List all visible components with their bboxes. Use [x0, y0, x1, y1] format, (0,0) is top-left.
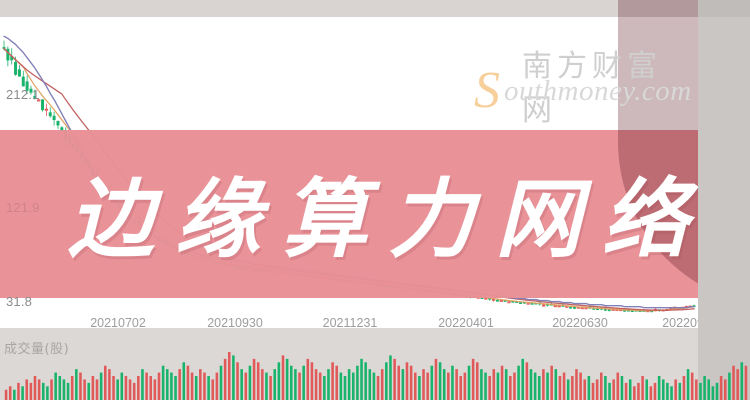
volume-bar	[307, 359, 310, 400]
volume-bar	[352, 373, 355, 400]
volume-bar	[240, 369, 243, 400]
volume-bar	[588, 376, 591, 400]
volume-bar	[323, 376, 326, 400]
volume-bar	[149, 376, 152, 400]
volume-bar	[542, 369, 545, 400]
volume-bar	[273, 369, 276, 400]
volume-bar	[129, 379, 132, 400]
volume-bar	[290, 366, 293, 400]
volume-bar	[133, 383, 136, 400]
volume-bar	[385, 362, 388, 400]
volume-bar	[232, 355, 235, 400]
volume-bar	[476, 362, 479, 400]
y-axis-label-mid: 121.9	[6, 200, 40, 215]
volume-bar	[9, 386, 12, 400]
volume-bar	[265, 373, 268, 400]
volume-bar	[451, 366, 454, 400]
volume-panel	[0, 336, 750, 400]
volume-bar	[728, 373, 731, 400]
volume-bar	[604, 376, 607, 400]
volume-bar	[145, 373, 148, 400]
volume-bar	[546, 373, 549, 400]
volume-bar	[699, 383, 702, 400]
volume-bar	[121, 373, 124, 400]
volume-bar	[327, 369, 330, 400]
volume-bar	[435, 359, 438, 400]
price-chart-card: 212.1 121.9 31.8 20210702202109302021123…	[0, 17, 698, 328]
volume-bar	[315, 369, 318, 400]
volume-bar	[521, 359, 524, 400]
volume-bar	[443, 369, 446, 400]
volume-bar	[662, 379, 665, 400]
volume-bar	[269, 376, 272, 400]
volume-bar	[46, 386, 49, 400]
volume-bar	[488, 376, 491, 400]
volume-bar	[187, 366, 190, 400]
volume-bar	[261, 369, 264, 400]
volume-bar	[707, 379, 710, 400]
volume-bar	[125, 376, 128, 400]
volume-bar	[745, 366, 748, 400]
volume-bar	[645, 379, 648, 400]
volume-bar	[389, 355, 392, 400]
volume-bar	[75, 369, 78, 400]
volume-bar	[54, 373, 57, 400]
volume-title: 成交量(股)	[4, 338, 69, 357]
volume-bar	[381, 369, 384, 400]
volume-bar	[418, 376, 421, 400]
volume-bar	[191, 373, 194, 400]
volume-bar	[71, 376, 74, 400]
volume-bar	[42, 383, 45, 400]
volume-bar	[658, 376, 661, 400]
y-axis-label-high: 212.1	[6, 87, 40, 102]
volume-bar	[629, 379, 632, 400]
volume-bar	[108, 369, 111, 400]
volume-bar	[335, 366, 338, 400]
volume-bar	[340, 373, 343, 400]
volume-bar	[257, 362, 260, 400]
volume-bar	[550, 366, 553, 400]
volume-bar	[720, 376, 723, 400]
volume-bar	[34, 376, 37, 400]
volume-bar	[426, 373, 429, 400]
volume-bar	[253, 359, 256, 400]
volume-bar	[369, 369, 372, 400]
volume-bar	[331, 362, 334, 400]
volume-bar	[410, 366, 413, 400]
candle-body-down	[18, 70, 20, 77]
volume-bar	[116, 379, 119, 400]
volume-bar	[402, 369, 405, 400]
x-axis-tick-1: 20210930	[207, 316, 263, 330]
volume-bar	[497, 373, 500, 400]
volume-bar	[162, 366, 165, 400]
volume-bar	[650, 386, 653, 400]
volume-bar	[493, 369, 496, 400]
volume-bar	[579, 373, 582, 400]
volume-bar	[472, 359, 475, 400]
volume-bar	[484, 373, 487, 400]
volume-bar	[625, 383, 628, 400]
volume-bar	[220, 366, 223, 400]
volume-bar	[703, 376, 706, 400]
volume-bar	[526, 362, 529, 400]
candle-body-down	[14, 62, 16, 74]
volume-bar	[608, 383, 611, 400]
volume-bar	[298, 373, 301, 400]
volume-bar	[600, 373, 603, 400]
candle-body-down	[573, 307, 575, 308]
volume-bar	[236, 362, 239, 400]
volume-bar	[356, 366, 359, 400]
volume-bar	[621, 376, 624, 400]
volume-bar	[199, 369, 202, 400]
volume-bar	[736, 369, 739, 400]
volume-bar	[67, 383, 70, 400]
volume-bar	[559, 376, 562, 400]
volume-bar	[319, 373, 322, 400]
volume-bar	[716, 383, 719, 400]
volume-bar	[464, 373, 467, 400]
x-axis-tick-0: 20210702	[90, 316, 146, 330]
volume-bar	[170, 373, 173, 400]
volume-bar	[137, 376, 140, 400]
volume-bar	[641, 376, 644, 400]
volume-bar	[87, 383, 90, 400]
candle-body-down	[41, 100, 43, 110]
volume-bar	[670, 386, 673, 400]
volume-bar	[178, 369, 181, 400]
volume-bar	[364, 362, 367, 400]
volume-bar	[414, 373, 417, 400]
volume-bar	[431, 366, 434, 400]
volume-bar	[195, 376, 198, 400]
volume-bar	[311, 362, 314, 400]
volume-bar	[480, 369, 483, 400]
volume-bar	[459, 376, 462, 400]
volume-bar	[571, 376, 574, 400]
volume-bar	[203, 373, 206, 400]
volume-bar	[294, 369, 297, 400]
volume-bar	[741, 362, 744, 400]
volume-bar	[249, 366, 252, 400]
volume-bar	[96, 379, 99, 400]
screenshot-root: 212.1 121.9 31.8 20210702202109302021123…	[0, 0, 750, 400]
candle-body-down	[49, 113, 51, 116]
volume-bar	[302, 366, 305, 400]
volume-bar	[228, 352, 231, 400]
volume-bar	[695, 379, 698, 400]
volume-bar	[104, 366, 107, 400]
x-axis: 2021070220210930202112312022040120220630…	[0, 316, 698, 338]
volume-bar	[563, 373, 566, 400]
volume-bar	[393, 359, 396, 400]
volume-bar	[468, 366, 471, 400]
volume-bar	[112, 376, 115, 400]
volume-bar	[360, 359, 363, 400]
volume-bar	[517, 366, 520, 400]
volume-bar	[712, 386, 715, 400]
volume-bar	[344, 376, 347, 400]
x-axis-tick-3: 20220401	[438, 316, 494, 330]
volume-bar	[724, 379, 727, 400]
volume-bar	[166, 369, 169, 400]
volume-bar	[183, 362, 186, 400]
volume-bar	[377, 376, 380, 400]
volume-bar	[286, 359, 289, 400]
candle-body-down	[569, 307, 571, 308]
volume-bar	[679, 383, 682, 400]
volume-bar	[637, 383, 640, 400]
volume-bar	[513, 373, 516, 400]
volume-bar	[21, 386, 24, 400]
volume-bar	[555, 369, 558, 400]
volume-bar	[245, 373, 248, 400]
volume-bar	[683, 376, 686, 400]
volume-bar	[633, 386, 636, 400]
volume-bar	[406, 362, 409, 400]
volume-bar	[92, 376, 95, 400]
volume-bar	[100, 373, 103, 400]
volume-bar	[282, 355, 285, 400]
volume-bar	[17, 383, 20, 400]
candle-body-down	[57, 121, 59, 125]
volume-bar	[348, 369, 351, 400]
volume-bar	[373, 373, 376, 400]
volume-bar	[224, 359, 227, 400]
volume-bar	[439, 362, 442, 400]
volume-bar	[13, 390, 16, 400]
volume-bar	[422, 369, 425, 400]
volume-bar	[691, 373, 694, 400]
volume-bar	[216, 373, 219, 400]
volume-bar	[83, 379, 86, 400]
volume-bar	[583, 379, 586, 400]
candle-body-down	[7, 49, 9, 60]
volume-bar	[174, 376, 177, 400]
x-axis-tick-2: 20211231	[323, 316, 378, 330]
candle-body-down	[519, 303, 521, 304]
volume-bar	[50, 379, 53, 400]
volume-bar	[25, 379, 28, 400]
volume-bar	[592, 383, 595, 400]
volume-bar	[30, 383, 33, 400]
volume-bar	[59, 376, 62, 400]
right-dimmer-top	[698, 0, 750, 17]
volume-bar	[509, 376, 512, 400]
volume-bar	[666, 383, 669, 400]
volume-bar	[397, 366, 400, 400]
volume-bar	[575, 369, 578, 400]
volume-bar	[654, 383, 657, 400]
volume-bar	[278, 362, 281, 400]
volume-bar	[38, 379, 41, 400]
volume-bar	[505, 369, 508, 400]
candle-body-down	[22, 77, 24, 86]
volume-bar	[732, 366, 735, 400]
volume-bar	[674, 379, 677, 400]
volume-bar	[207, 376, 210, 400]
volume-bar	[534, 373, 537, 400]
volume-bar	[538, 376, 541, 400]
y-axis-label-low: 31.8	[6, 294, 32, 309]
candle-body-up	[527, 303, 529, 304]
candle-body-down	[53, 116, 55, 120]
volume-chart-svg	[0, 336, 750, 400]
volume-bar	[596, 379, 599, 400]
volume-bar	[530, 369, 533, 400]
volume-bar	[612, 379, 615, 400]
volume-bar	[158, 373, 161, 400]
volume-bar	[141, 369, 144, 400]
volume-bar	[5, 390, 8, 400]
pink-highlight-band	[0, 130, 698, 298]
candle-body-up	[508, 302, 510, 303]
volume-bar	[501, 366, 504, 400]
volume-bar	[63, 379, 66, 400]
volume-bar	[154, 379, 157, 400]
volume-bar	[447, 373, 450, 400]
volume-bar	[617, 373, 620, 400]
volume-bar	[455, 369, 458, 400]
candle-body-down	[496, 300, 498, 301]
x-axis-tick-4: 20220630	[552, 316, 608, 330]
volume-bar	[687, 369, 690, 400]
volume-bar	[567, 379, 570, 400]
volume-bar	[79, 373, 82, 400]
volume-bar	[211, 379, 214, 400]
